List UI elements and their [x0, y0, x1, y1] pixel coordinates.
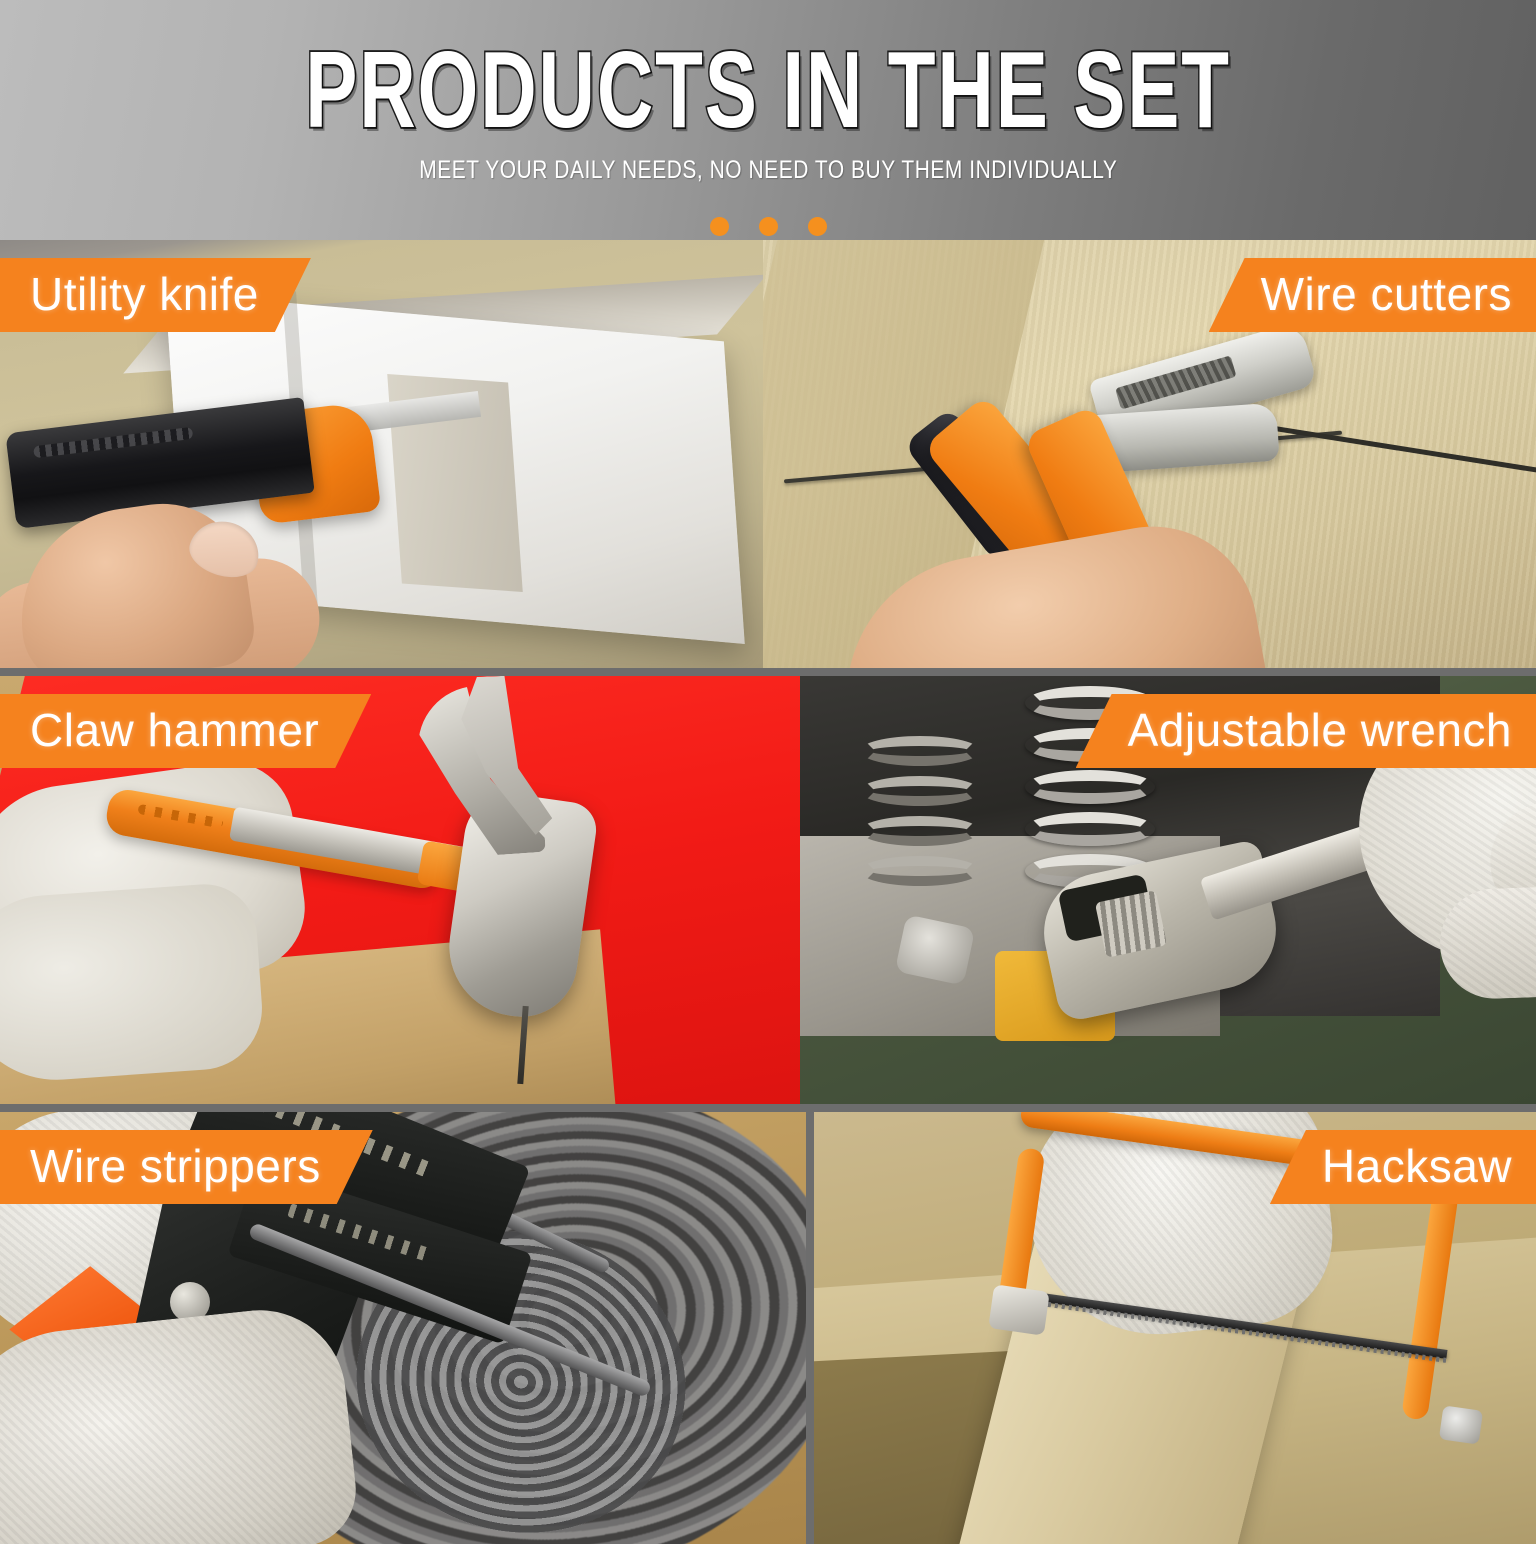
product-label-wire-strippers: Wire strippers: [0, 1130, 373, 1204]
product-cell-hacksaw[interactable]: Hacksaw: [814, 1112, 1536, 1544]
product-label-utility-knife: Utility knife: [0, 258, 311, 332]
product-grid: Utility knife Wire cutters: [0, 240, 1536, 1544]
decorative-dots: [710, 217, 827, 236]
product-set-infographic: PRODUCTS IN THE SET MEET YOUR DAILY NEED…: [0, 0, 1536, 1536]
page-title: PRODUCTS IN THE SET: [305, 40, 1231, 143]
dot-icon: [808, 217, 827, 236]
grid-row-2: Claw hammer: [0, 676, 1536, 1104]
product-cell-adjustable-wrench[interactable]: Adjustable wrench: [800, 676, 1536, 1104]
dot-icon: [759, 217, 778, 236]
product-label-adjustable-wrench: Adjustable wrench: [1076, 694, 1536, 768]
product-label-hacksaw: Hacksaw: [1270, 1130, 1536, 1204]
product-cell-wire-strippers[interactable]: Wire strippers: [0, 1112, 806, 1544]
grid-row-3: Wire strippers: [0, 1112, 1536, 1544]
dot-icon: [710, 217, 729, 236]
product-label-claw-hammer: Claw hammer: [0, 694, 371, 768]
header-banner: PRODUCTS IN THE SET MEET YOUR DAILY NEED…: [0, 0, 1536, 240]
product-label-wire-cutters: Wire cutters: [1209, 258, 1536, 332]
product-cell-utility-knife[interactable]: Utility knife: [0, 240, 763, 668]
product-cell-claw-hammer[interactable]: Claw hammer: [0, 676, 800, 1104]
page-subtitle: MEET YOUR DAILY NEEDS, NO NEED TO BUY TH…: [419, 155, 1117, 184]
product-cell-wire-cutters[interactable]: Wire cutters: [763, 240, 1536, 668]
grid-row-1: Utility knife Wire cutters: [0, 240, 1536, 668]
